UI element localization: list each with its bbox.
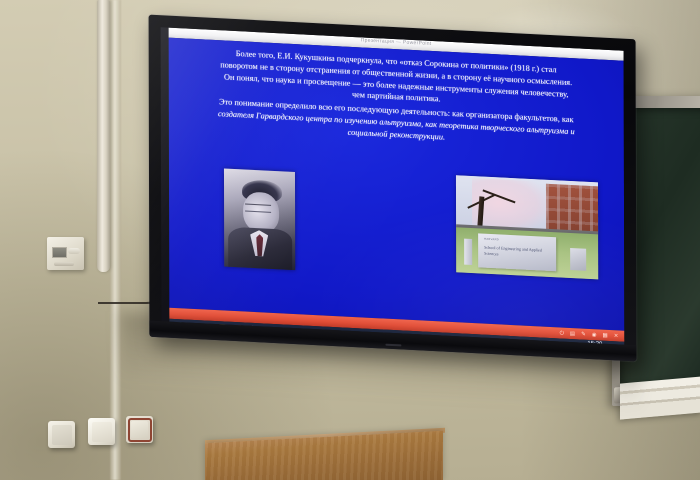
app-title: Презентация — PowerPoint [361,37,432,47]
switch-rocker[interactable] [52,425,72,445]
sign-post [464,239,472,265]
light-switch-1[interactable] [48,421,75,448]
switch-rocker[interactable] [131,421,148,438]
wall-seam [110,0,121,480]
presenter-pen-icon[interactable]: ✎ [581,330,586,338]
switch-rocker[interactable] [92,422,112,442]
wall-thermostat[interactable] [47,237,84,270]
slide-image-harvard-campus: HARVARD School of Engineering and Applie… [456,175,598,279]
harvard-sign-line2: School of Engineering and Applied Scienc… [484,245,552,260]
harvard-sign-line1: HARVARD [484,238,499,242]
presenter-power-icon[interactable]: ⏻ [560,329,564,337]
presenter-record-icon[interactable]: ◉ [592,331,597,339]
tv-screen[interactable]: Презентация — PowerPoint Более того, Е.И… [161,27,625,344]
presenter-list-icon[interactable]: ▤ [570,329,575,337]
light-switch-2[interactable] [88,418,115,445]
light-switch-3[interactable] [126,416,153,443]
wall-mounted-television[interactable]: Презентация — PowerPoint Более того, Е.И… [149,15,637,362]
portrait-glasses [245,204,271,213]
powerpoint-slide: Более того, Е.И. Кукушкина подчеркнула, … [169,38,625,331]
stone-marker [570,248,586,271]
thermostat-slider[interactable] [54,262,74,266]
tv-brand-logo [385,344,401,347]
classroom-photo-scene: Презентация — PowerPoint Более того, Е.И… [0,0,700,480]
presenter-close-icon[interactable]: ✕ [614,332,619,340]
presenter-grid-icon[interactable]: ▦ [603,331,608,339]
slide-body-text: Более того, Е.И. Кукушкина подчеркнула, … [181,45,612,151]
thermostat-display [52,247,67,258]
thermostat-knob[interactable] [68,248,80,254]
cable-conduit [97,0,110,272]
slide-image-portrait [224,168,295,270]
harvard-sign: HARVARD School of Engineering and Applie… [478,233,556,271]
